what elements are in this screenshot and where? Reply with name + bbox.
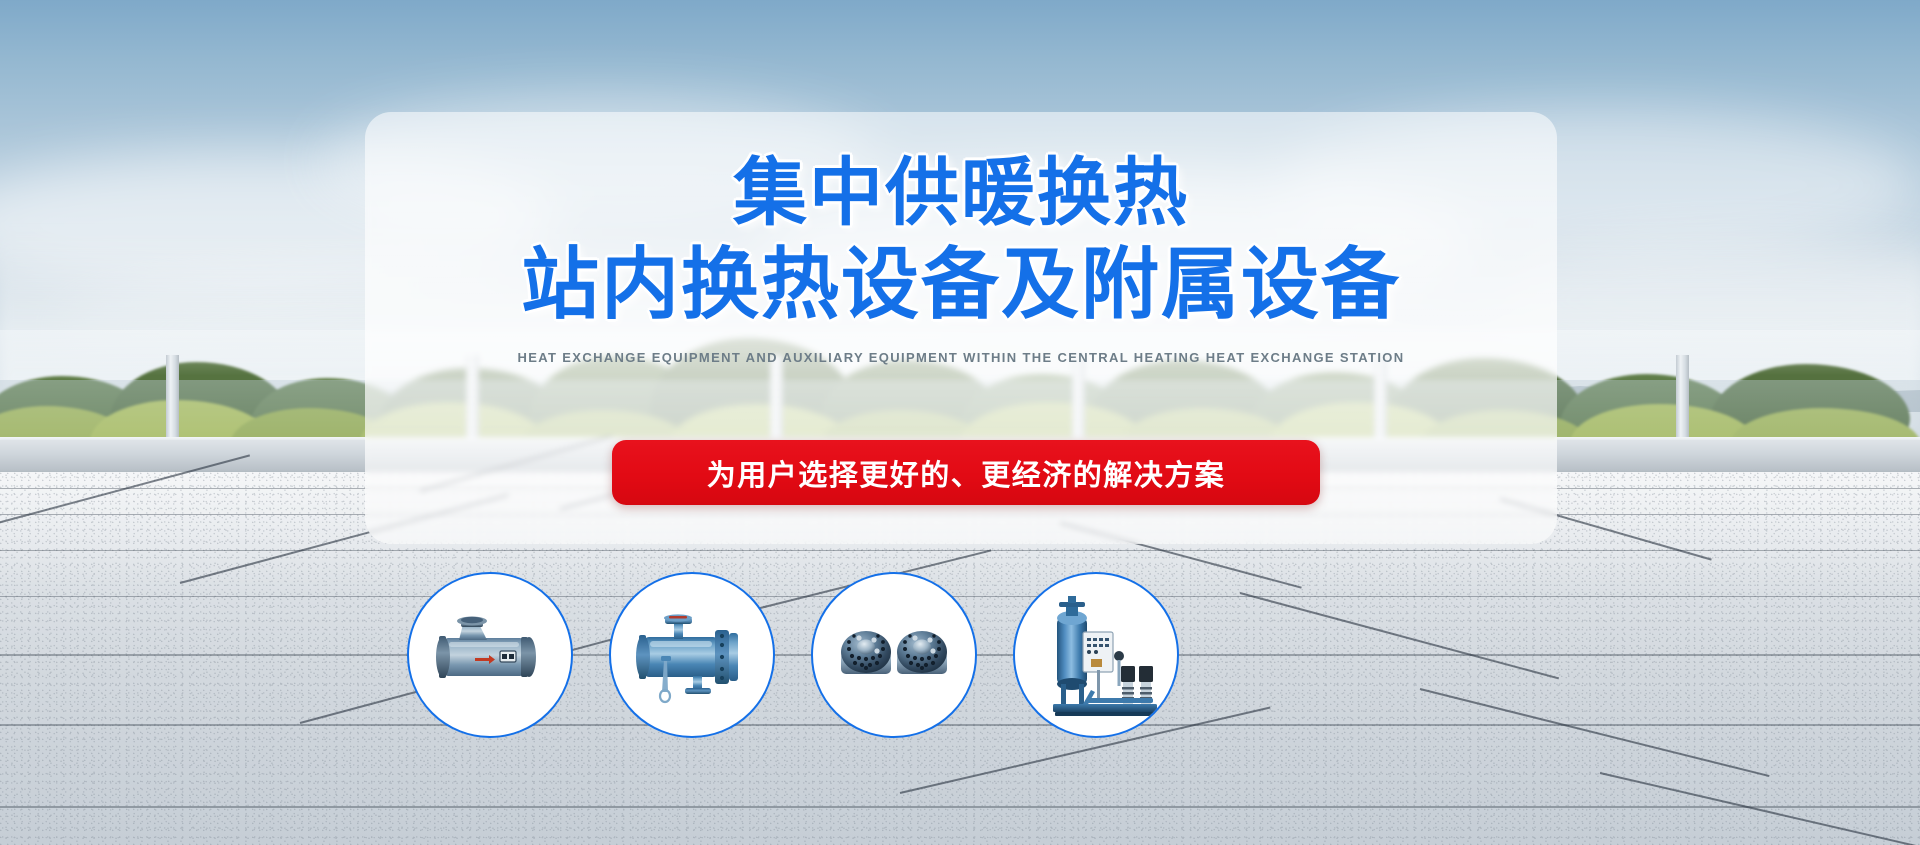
perforated-tube-sheet-pair-icon xyxy=(819,580,969,730)
hero-banner: 集中供暖换热 站内换热设备及附属设备 HEAT EXCHANGE EQUIPME… xyxy=(0,0,1920,845)
product-circle-shell-and-tube-heat-exchanger[interactable] xyxy=(609,572,775,738)
pressurized-water-supply-pump-skid-icon xyxy=(1021,580,1171,730)
product-circle-row xyxy=(0,0,1920,845)
tubular-heat-exchanger-vessel-icon xyxy=(415,580,565,730)
product-circle-perforated-tube-sheet-pair[interactable] xyxy=(811,572,977,738)
product-circle-tubular-heat-exchanger-vessel[interactable] xyxy=(407,572,573,738)
product-circle-pressurized-water-supply-pump-skid[interactable] xyxy=(1013,572,1179,738)
shell-and-tube-heat-exchanger-icon xyxy=(617,580,767,730)
